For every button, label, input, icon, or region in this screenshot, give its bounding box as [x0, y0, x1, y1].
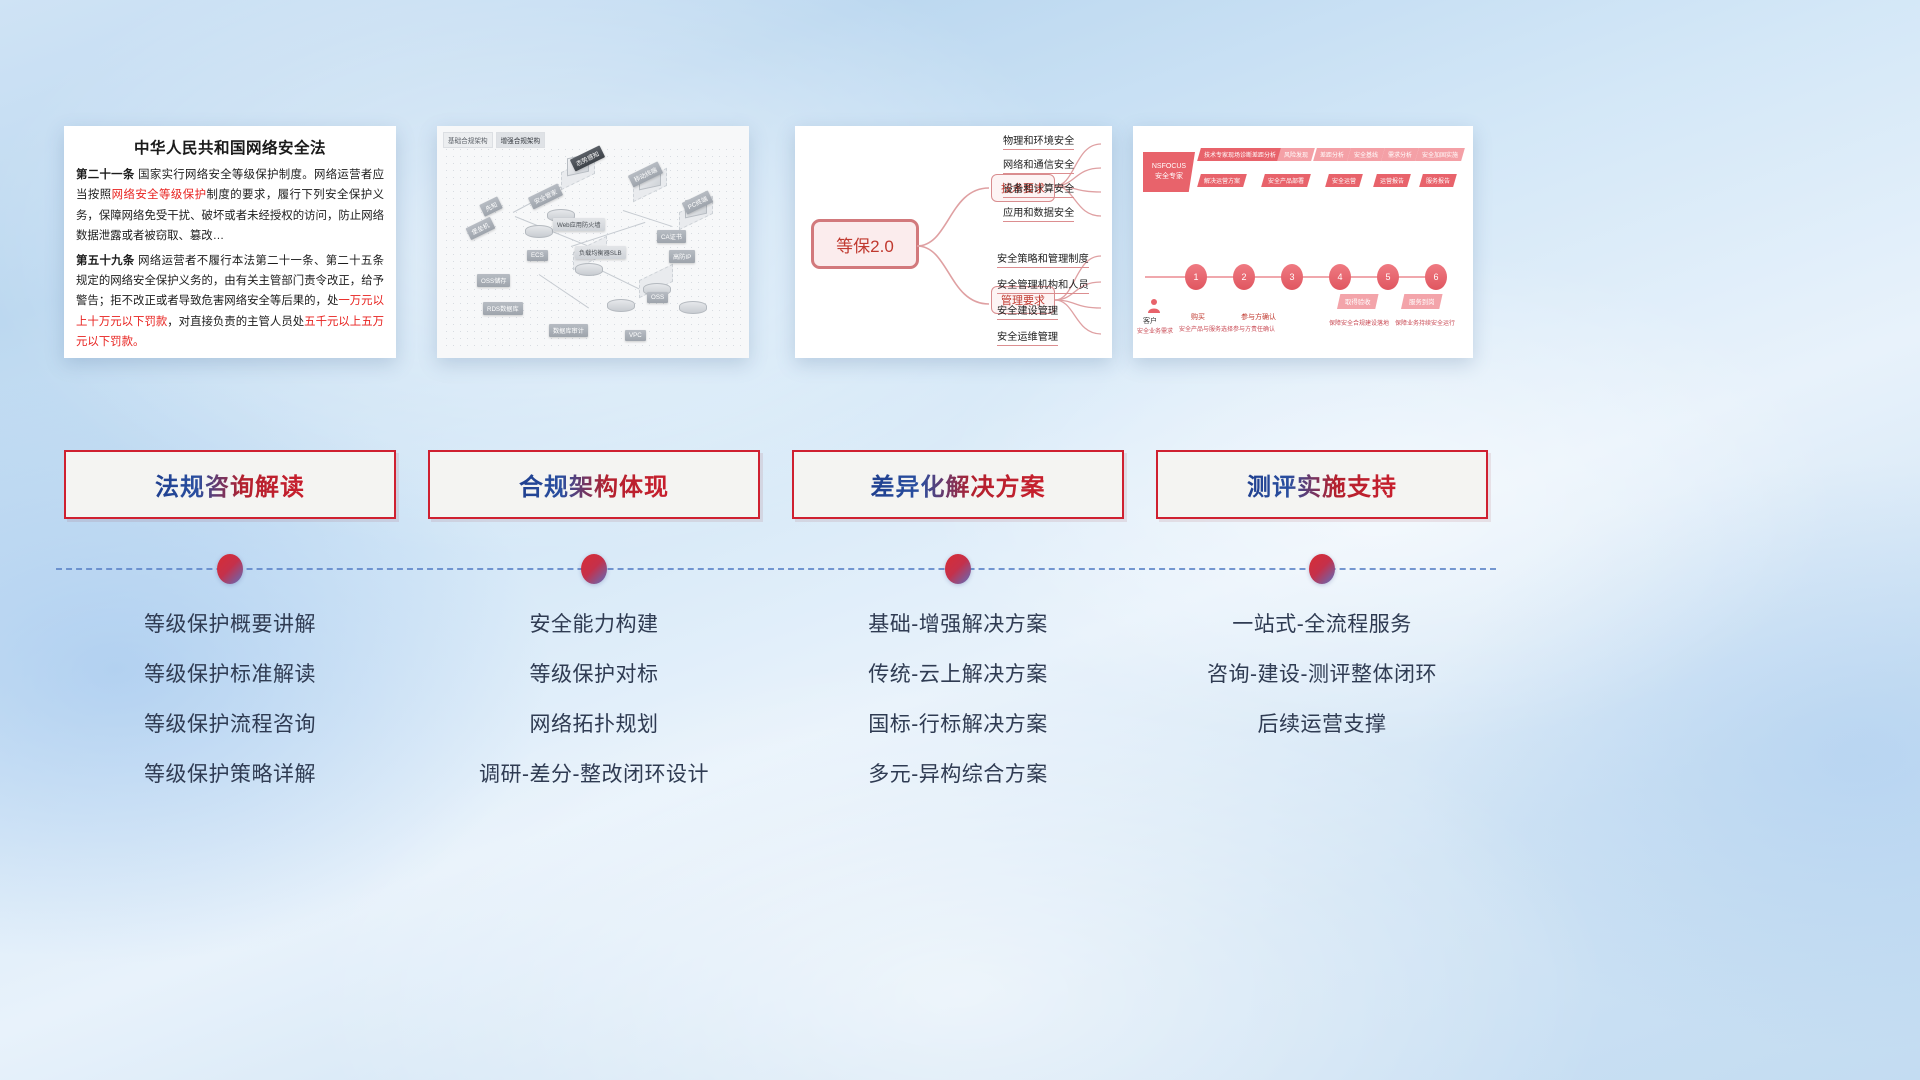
top-chip-label: 差距分析 — [1320, 150, 1344, 159]
card-architecture-diagram[interactable]: 基础合规架构 增强合规架构 — [437, 126, 749, 358]
stage-chip-label: 安全运营 — [1332, 176, 1356, 185]
process-timeline — [56, 568, 1496, 570]
architecture-node-rds-database: RDS数据库 — [483, 302, 523, 315]
law-article-21: 第二十一条 国家实行网络安全等级保护制度。网络运营者应当按照网络安全等级保护制度… — [76, 165, 384, 247]
architecture-node-ecs: ECS — [527, 250, 548, 261]
feature-column-row: 等级保护概要讲解 等级保护标准解读 等级保护流程咨询 等级保护策略详解 安全能力… — [0, 600, 1920, 820]
top-chip-0: 技术专家现场诊断差距分析 — [1197, 148, 1283, 161]
banner-differentiated-solution[interactable]: 差异化解决方案 — [792, 450, 1124, 519]
bottom-caption-participants: 参与方责任确认 — [1233, 324, 1275, 333]
customer-role-caption: 安全业务需求 — [1137, 326, 1173, 335]
top-chip-label: 风险发现 — [1284, 150, 1308, 159]
top-chip-label: 安全加固实施 — [1422, 150, 1458, 159]
feature-column-solution: 基础-增强解决方案 传统-云上解决方案 国标-行标解决方案 多元-异构综合方案 — [792, 600, 1124, 800]
banner-compliance-architecture[interactable]: 合规架构体现 — [428, 450, 760, 519]
feature-item: 等级保护流程咨询 — [64, 700, 396, 750]
architecture-node-ca-certificate: CA证书 — [657, 230, 686, 243]
right-caption-acceptance: 保障安全合规建设落地 — [1329, 318, 1389, 327]
architecture-node-oss-storage: OSS储存 — [477, 274, 510, 287]
article-59-label: 第五十九条 — [76, 255, 135, 267]
stage-chip-label: 运营报告 — [1380, 176, 1404, 185]
timeline-step-1: 1 — [1185, 264, 1207, 290]
customer-role-label: 客户 — [1143, 316, 1157, 326]
feature-item: 等级保护策略详解 — [64, 750, 396, 800]
architecture-node-oss: OSS — [647, 292, 668, 303]
top-chip-label: 安全基线 — [1354, 150, 1378, 159]
banner-label: 测评实施支持 — [1247, 467, 1397, 502]
timeline-node-1[interactable] — [217, 554, 243, 584]
feature-item: 一站式-全流程服务 — [1156, 600, 1488, 650]
feature-item: 基础-增强解决方案 — [792, 600, 1124, 650]
feature-item: 多元-异构综合方案 — [792, 750, 1124, 800]
architecture-cylinder — [525, 222, 551, 238]
mindmap-leaf-security-construction-management: 安全建设管理 — [997, 302, 1058, 320]
banner-row: 法规咨询解读 合规架构体现 差异化解决方案 测评实施支持 — [0, 450, 1920, 520]
bottom-label-purchase: 购买 — [1191, 312, 1205, 322]
top-chip-label: 需求分析 — [1388, 150, 1412, 159]
architecture-node-vpc: VPC — [625, 330, 646, 341]
service-timeline-canvas: NSFOCUS 安全专家 技术专家现场诊断差距分析 风险发现 差距分析 安全基线… — [1133, 126, 1473, 358]
feature-item: 咨询-建设-测评整体闭环 — [1156, 650, 1488, 700]
feature-item: 等级保护概要讲解 — [64, 600, 396, 650]
architecture-node-load-balancer: 负载均衡器SLB — [575, 246, 626, 259]
top-chip-3: 安全基线 — [1347, 148, 1385, 161]
stage-chip-label: 安全产品部署 — [1268, 176, 1304, 185]
law-article-59: 第五十九条 网络运营者不履行本法第二十一条、第二十五条规定的网络安全保护义务的，… — [76, 251, 384, 353]
mindmap-leaf-device-computing-security: 设备和计算安全 — [1003, 180, 1074, 198]
mindmap-leaf-application-data-security: 应用和数据安全 — [1003, 204, 1074, 222]
architecture-link — [539, 274, 589, 308]
law-document-title: 中华人民共和国网络安全法 — [76, 136, 384, 158]
architecture-cylinder — [679, 298, 705, 314]
timeline-step-5: 5 — [1377, 264, 1399, 290]
mindmap-connectors — [915, 166, 995, 326]
stage-chip-0: 解决运营方案 — [1197, 174, 1247, 187]
banner-label: 合规架构体现 — [519, 467, 669, 502]
timeline-node-4[interactable] — [1309, 554, 1335, 584]
top-chip-5: 安全加固实施 — [1415, 148, 1465, 161]
timeline-node-2[interactable] — [581, 554, 607, 584]
architecture-node-database-audit: 数据库审计 — [549, 324, 588, 337]
top-chip-1: 风险发现 — [1277, 148, 1315, 161]
banner-label: 法规咨询解读 — [155, 467, 305, 502]
mindmap-leaf-network-communication-security: 网络和通信安全 — [1003, 156, 1074, 174]
bottom-label-participants: 参与方确认 — [1241, 312, 1276, 322]
nsfocus-expert-badge: NSFOCUS 安全专家 — [1143, 152, 1195, 192]
feature-item: 传统-云上解决方案 — [792, 650, 1124, 700]
architecture-cylinder — [575, 260, 601, 276]
mindmap-leaf-physical-environment-security: 物理和环境安全 — [1003, 132, 1074, 150]
nsfocus-badge-line2: 安全专家 — [1155, 172, 1183, 182]
mindmap-leaf-security-org-personnel: 安全管理机构和人员 — [997, 276, 1089, 294]
feature-item: 网络拓扑规划 — [428, 700, 760, 750]
architecture-node-anti-ddos-ip: 高防IP — [669, 250, 695, 263]
mindmap-root-node: 等保2.0 — [811, 219, 919, 269]
stage-chip-label: 服务报告 — [1426, 176, 1450, 185]
article-21-highlight: 网络安全等级保护 — [112, 189, 207, 201]
feature-item: 等级保护对标 — [428, 650, 760, 700]
stage-chip-3: 运营报告 — [1373, 174, 1411, 187]
law-document-body: 中华人民共和国网络安全法 第二十一条 国家实行网络安全等级保护制度。网络运营者应… — [64, 126, 396, 358]
bottom-caption-purchase: 安全产品与服务选择 — [1179, 324, 1233, 333]
timeline-step-6: 6 — [1425, 264, 1447, 290]
stage-chip-2: 安全运营 — [1325, 174, 1363, 187]
feature-column-regulation: 等级保护概要讲解 等级保护标准解读 等级保护流程咨询 等级保护策略详解 — [64, 600, 396, 800]
card-mindmap[interactable]: 等保2.0 技术要求 管理要求 物理和环境安全 网络和通信安全 设备 — [795, 126, 1112, 358]
architecture-canvas: 基础合规架构 增强合规架构 — [437, 126, 749, 358]
architecture-link — [623, 210, 673, 227]
customer-person-icon — [1147, 298, 1161, 314]
timeline-step-4: 4 — [1329, 264, 1351, 290]
feature-item: 国标-行标解决方案 — [792, 700, 1124, 750]
timeline-step-2: 2 — [1233, 264, 1255, 290]
card-law-document[interactable]: 中华人民共和国网络安全法 第二十一条 国家实行网络安全等级保护制度。网络运营者应… — [64, 126, 396, 358]
stage-chip-1: 安全产品部署 — [1261, 174, 1311, 187]
timeline-dashed-line — [56, 568, 1496, 570]
timeline-step-3: 3 — [1281, 264, 1303, 290]
architecture-node-foresight: 先知 — [479, 196, 503, 217]
article-59-text-b: ，对直接负责的主管人员处 — [167, 316, 304, 328]
feature-item: 后续运营支撑 — [1156, 700, 1488, 750]
right-caption-service: 保障业务持续安全运行 — [1395, 318, 1455, 327]
banner-label: 差异化解决方案 — [871, 467, 1046, 502]
image-card-row: 中华人民共和国网络安全法 第二十一条 国家实行网络安全等级保护制度。网络运营者应… — [0, 126, 1920, 366]
stage-chip-4: 服务报告 — [1419, 174, 1457, 187]
architecture-node-web-application-firewall: Web应用防火墙 — [553, 218, 605, 231]
top-chip-2: 差距分析 — [1313, 148, 1351, 161]
architecture-cylinder — [607, 296, 633, 312]
banner-regulation-consulting[interactable]: 法规咨询解读 — [64, 450, 396, 519]
right-tag-service: 服务到岗 — [1401, 294, 1443, 309]
right-tag-acceptance: 取得验收 — [1337, 294, 1379, 309]
top-chip-4: 需求分析 — [1381, 148, 1419, 161]
mindmap-leaf-security-policy-system: 安全策略和管理制度 — [997, 250, 1089, 268]
feature-item: 安全能力构建 — [428, 600, 760, 650]
architecture-node-bastion-host: 堡垒机 — [465, 217, 495, 240]
feature-item: 等级保护标准解读 — [64, 650, 396, 700]
feature-column-architecture: 安全能力构建 等级保护对标 网络拓扑规划 调研-差分-整改闭环设计 — [428, 600, 760, 800]
nsfocus-badge-line1: NSFOCUS — [1152, 162, 1186, 172]
feature-column-assessment: 一站式-全流程服务 咨询-建设-测评整体闭环 后续运营支撑 — [1156, 600, 1488, 750]
stage-chip-label: 解决运营方案 — [1204, 176, 1240, 185]
article-21-label: 第二十一条 — [76, 169, 135, 181]
mindmap-leaf-security-operations-management: 安全运维管理 — [997, 328, 1058, 346]
architecture-dot-grid: 态势感知 先知 安全管家 堡垒机 移动终端 PC终端 Web应用防火墙 负载均衡… — [443, 146, 743, 352]
banner-assessment-support[interactable]: 测评实施支持 — [1156, 450, 1488, 519]
timeline-node-3[interactable] — [945, 554, 971, 584]
mindmap-canvas: 等保2.0 技术要求 管理要求 物理和环境安全 网络和通信安全 设备 — [795, 126, 1112, 358]
card-service-timeline[interactable]: NSFOCUS 安全专家 技术专家现场诊断差距分析 风险发现 差距分析 安全基线… — [1133, 126, 1473, 358]
feature-item: 调研-差分-整改闭环设计 — [428, 750, 760, 800]
top-chip-label: 技术专家现场诊断差距分析 — [1204, 150, 1276, 159]
